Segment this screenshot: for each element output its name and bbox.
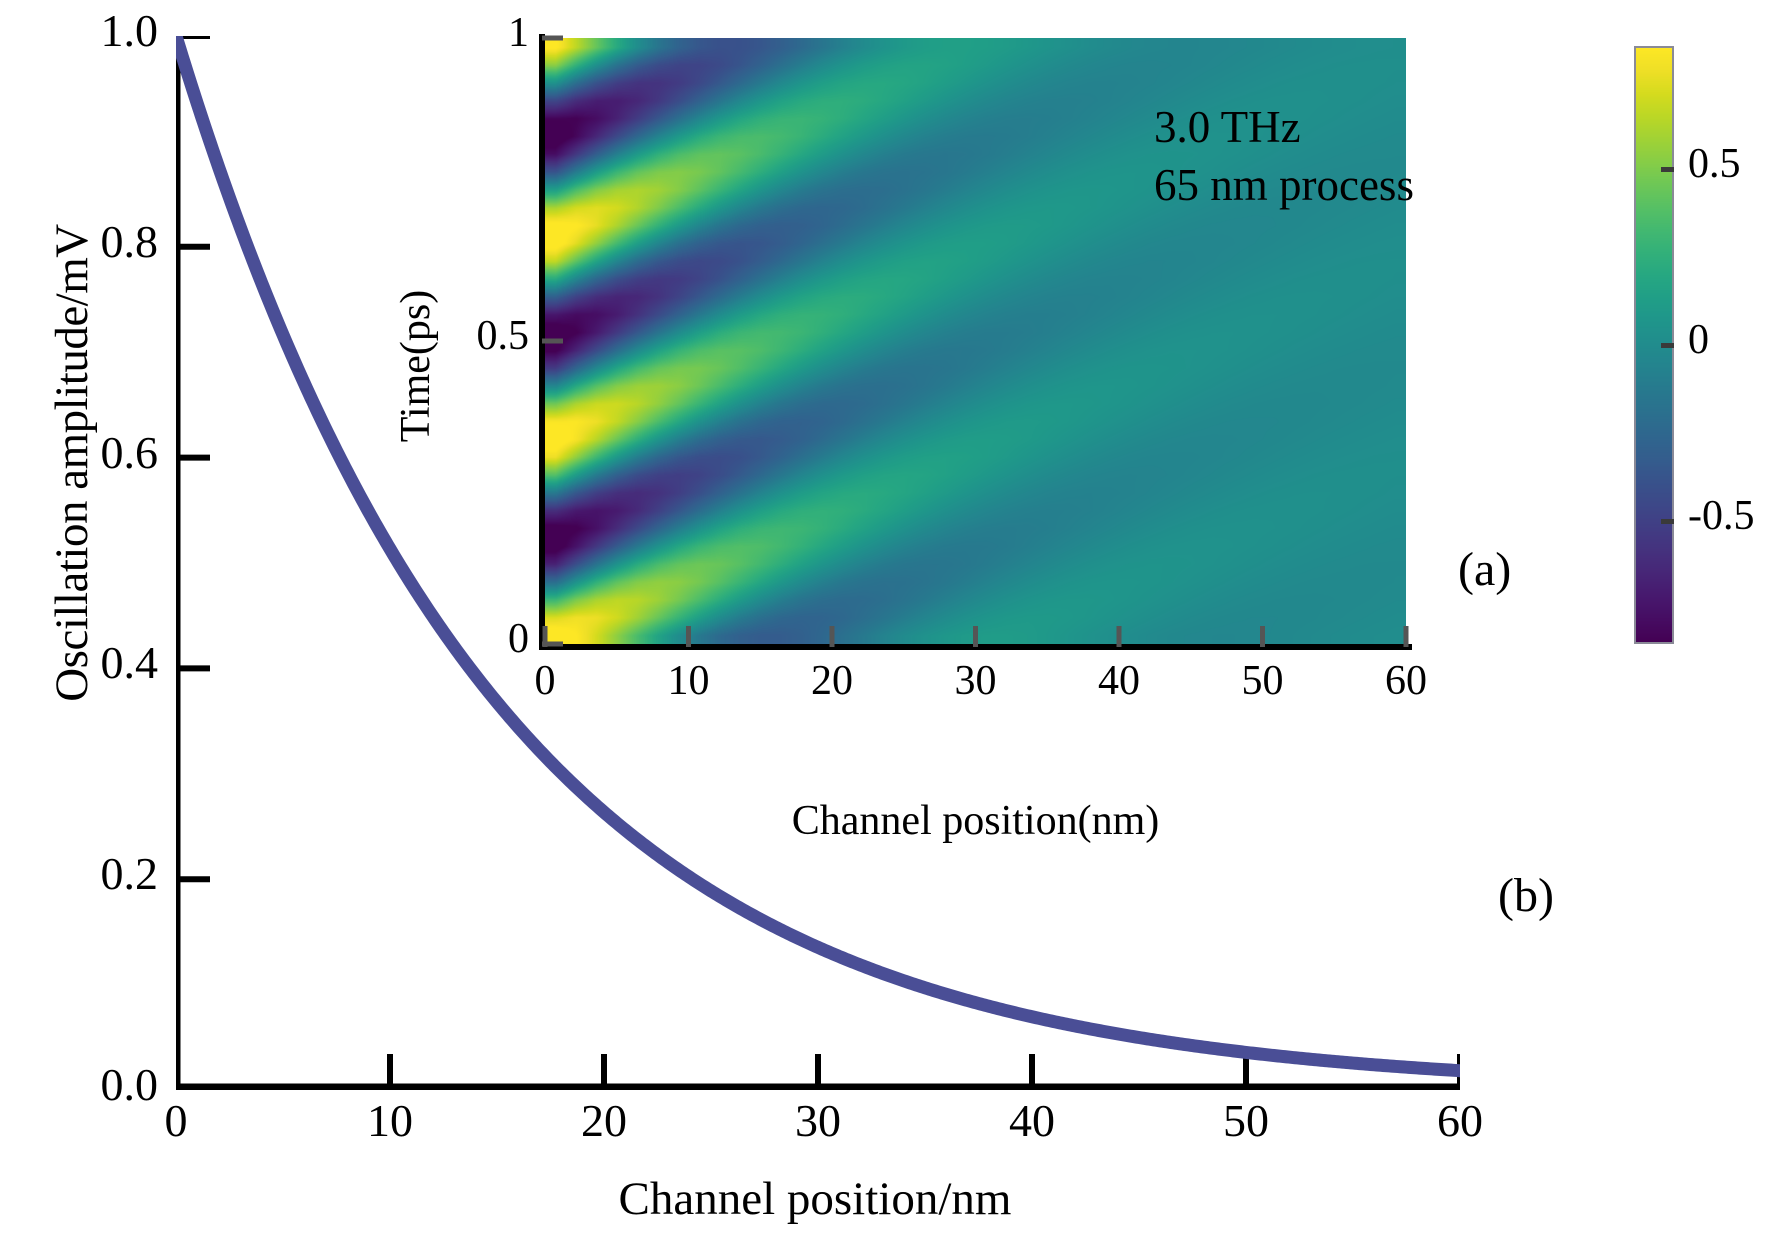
- figure-root: 0.00.20.40.60.81.0 0102030405060 Oscilla…: [0, 0, 1772, 1254]
- inset-y-tick-label-1: 0.5: [477, 315, 530, 357]
- inset-x-tick-label-0: 0: [490, 660, 600, 702]
- inset-x-axis-title: Channel position(nm): [545, 797, 1406, 845]
- inset-x-tick-label-2: 20: [777, 660, 887, 702]
- inset-annotation-frequency: 3.0 THz: [1154, 100, 1301, 155]
- colorbar-tick-mark-2: [1661, 519, 1674, 524]
- inset-plot-area: 0.50-0.5 00.51 0102030405060 Time(ps) Ch…: [0, 0, 1772, 1254]
- inset-x-tick-label-6: 60: [1351, 660, 1461, 702]
- inset-x-tick-label-1: 10: [634, 660, 744, 702]
- colorbar-tick-mark-1: [1661, 343, 1674, 348]
- colorbar-tick-label-0: 0.5: [1688, 143, 1741, 185]
- inset-y-tick-label-2: 1: [508, 12, 529, 54]
- inset-x-tick-label-3: 30: [921, 660, 1031, 702]
- panel-label-a: (a): [1458, 546, 1511, 594]
- inset-x-tick-label-4: 40: [1064, 660, 1174, 702]
- colorbar-tick-label-2: -0.5: [1688, 495, 1755, 537]
- inset-y-axis-title: Time(ps): [392, 206, 440, 526]
- inset-y-tick-label-0: 0: [508, 618, 529, 660]
- colorbar-tick-mark-0: [1661, 167, 1674, 172]
- inset-annotation-process: 65 nm process: [1154, 158, 1414, 213]
- inset-x-tick-label-5: 50: [1208, 660, 1318, 702]
- colorbar-tick-label-1: 0: [1688, 319, 1709, 361]
